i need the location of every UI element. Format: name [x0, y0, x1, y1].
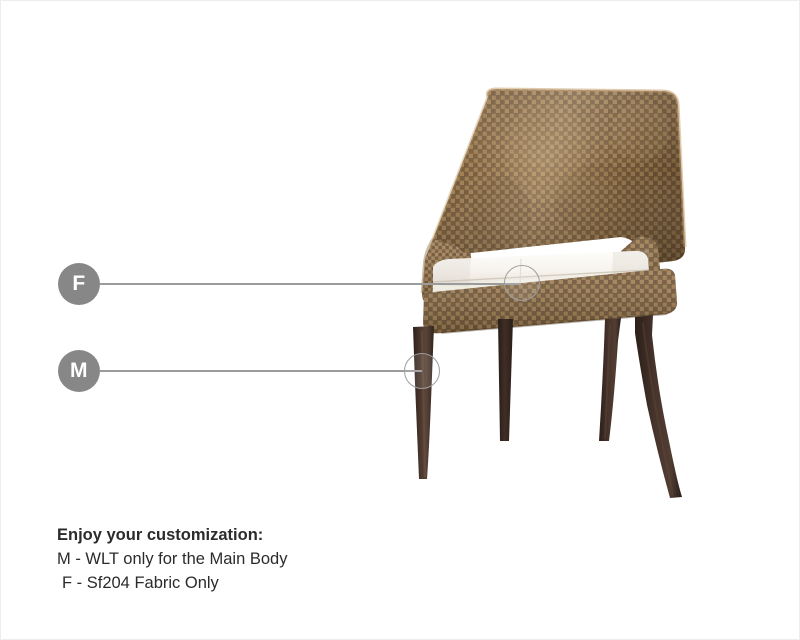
chair-illustration [1, 1, 800, 511]
product-customization-screen: F M Enjoy your customization: M - WLT on… [0, 0, 800, 640]
customization-summary: Enjoy your customization: M - WLT only f… [57, 523, 477, 595]
callout-badge-f[interactable]: F [58, 263, 100, 305]
customization-option-m: M - WLT only for the Main Body [57, 547, 477, 571]
leg-back-left [498, 319, 513, 441]
callout-target-leg[interactable] [404, 353, 440, 389]
leg-back-right [635, 315, 682, 498]
chair-back [421, 81, 701, 281]
customization-title: Enjoy your customization: [57, 523, 477, 547]
callout-badge-m[interactable]: M [58, 350, 100, 392]
product-image [1, 1, 800, 511]
callout-line-m [100, 370, 422, 372]
callout-line-f [100, 283, 521, 285]
callout-target-cushion[interactable] [504, 265, 540, 301]
customization-option-f: F - Sf204 Fabric Only [57, 571, 477, 595]
